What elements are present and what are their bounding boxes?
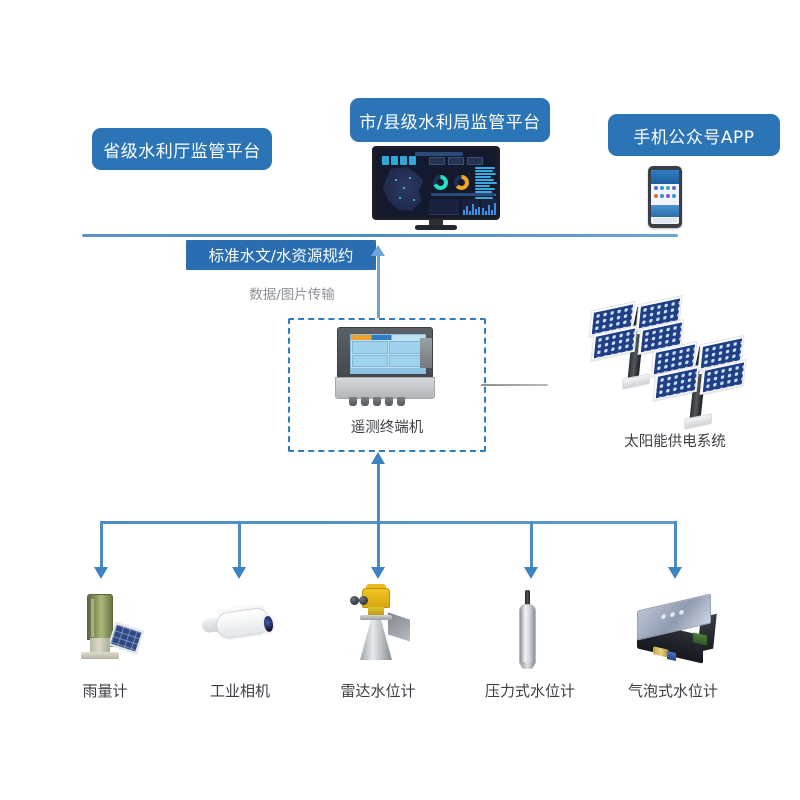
transmission-sublabel: 数据/图片传输	[232, 283, 352, 303]
dashboard-donut-chart-1	[433, 175, 448, 190]
platform-box-provincial[interactable]: 省级水利厅监管平台	[92, 128, 272, 170]
rain-gauge-base	[81, 652, 119, 659]
rain-gauge-solar-panel-icon	[108, 622, 144, 654]
bus-arrowhead-2	[232, 567, 246, 579]
phone-footer-banner	[651, 205, 679, 217]
dashboard-donut-chart-2	[454, 175, 469, 190]
uplink-arrow-head-upper	[371, 245, 385, 256]
rtu-device-icon	[333, 327, 441, 405]
dashboard-china-map	[381, 167, 425, 213]
solar-array-2	[652, 340, 748, 410]
rtu-connector-block	[420, 338, 432, 368]
diagram-canvas: 省级水利厅监管平台 市/县级水利局监管平台 手机公众号APP	[0, 0, 800, 800]
sensor-label-industrial-camera: 工业相机	[170, 680, 310, 701]
dashboard-kpi-row	[429, 157, 483, 165]
sensor-label-radar-water-level: 雷达水位计	[308, 680, 448, 701]
dashboard-line-chart-1	[429, 199, 459, 215]
bus-arrowhead-1	[94, 567, 108, 579]
bus-arrowhead-3	[371, 567, 385, 579]
dashboard-title-bar	[415, 152, 463, 156]
phone-header-banner	[651, 170, 679, 184]
phone-app-icon-grid	[651, 184, 679, 205]
rtu-cable-glands	[349, 397, 405, 406]
bus-arrowhead-5	[668, 567, 682, 579]
sensor-uplink-stem	[377, 459, 380, 569]
rtu-enclosure-bottom	[335, 377, 435, 399]
uplink-arrow-stem-upper	[377, 254, 380, 318]
sensor-label-bubbler-water-level: 气泡式水位计	[603, 680, 743, 701]
dashboard-vbars-2	[482, 202, 496, 215]
solar-power-label: 太阳能供电系统	[590, 430, 760, 451]
protocol-box[interactable]: 标准水文/水资源规约	[186, 240, 376, 270]
rtu-enclosure-top	[337, 327, 433, 379]
desktop-monitor-icon	[372, 146, 500, 230]
pressure-water-level-icon	[470, 588, 590, 678]
solar-power-icon	[590, 298, 760, 448]
radar-connector-eyes	[350, 596, 368, 605]
bubbler-blue-connector	[667, 651, 676, 661]
platform-box-city-county[interactable]: 市/县级水利局监管平台	[350, 98, 550, 142]
rtu-lcd-statusbar	[351, 368, 425, 373]
platform-label-city-county: 市/县级水利局监管平台	[359, 108, 540, 133]
dashboard-chip-row	[382, 156, 416, 165]
protocol-label: 标准水文/水资源规约	[209, 244, 354, 266]
rtu-label: 遥测终端机	[288, 416, 486, 437]
radar-flange	[360, 615, 392, 620]
rtu-lcd-display	[350, 334, 426, 374]
sensor-uplink-arrowhead	[371, 452, 385, 464]
bus-drop-5	[674, 521, 677, 569]
pressure-sensor-tip	[521, 662, 534, 669]
monitor-bezel	[372, 146, 500, 220]
monitor-dashboard-screen	[375, 149, 497, 217]
platform-label-mobile-app: 手机公众号APP	[633, 123, 754, 148]
platform-layer-divider	[82, 234, 678, 237]
platform-label-provincial: 省级水利厅监管平台	[103, 137, 261, 162]
industrial-camera-icon	[182, 588, 302, 678]
bus-drop-1	[100, 521, 103, 569]
bus-drop-2	[238, 521, 241, 569]
sensor-label-rain-gauge: 雨量计	[35, 680, 175, 701]
monitor-stand-base	[415, 225, 457, 230]
rtu-antenna-icon	[481, 384, 548, 386]
phone-screen	[651, 170, 679, 224]
smartphone-icon	[648, 166, 682, 228]
platform-box-mobile-app[interactable]: 手机公众号APP	[608, 114, 780, 156]
rain-gauge-cylinder	[87, 594, 113, 640]
dashboard-vbars-1	[463, 202, 480, 215]
bubbler-water-level-icon	[615, 586, 735, 676]
rain-gauge-icon	[45, 588, 165, 678]
rtu-lcd-cell-grid	[351, 340, 425, 368]
dashboard-subtitle-bar	[431, 193, 495, 196]
bus-arrowhead-4	[524, 567, 538, 579]
solar-pole-base-2	[684, 413, 712, 430]
bus-drop-4	[530, 521, 533, 569]
radar-water-level-icon	[320, 582, 440, 672]
solar-pole-base-1	[622, 373, 650, 390]
phone-content-row	[653, 218, 677, 223]
sensor-label-pressure-water-level: 压力式水位计	[460, 680, 600, 701]
pressure-sensor-body	[519, 604, 536, 666]
sensor-bus-line	[100, 521, 676, 524]
